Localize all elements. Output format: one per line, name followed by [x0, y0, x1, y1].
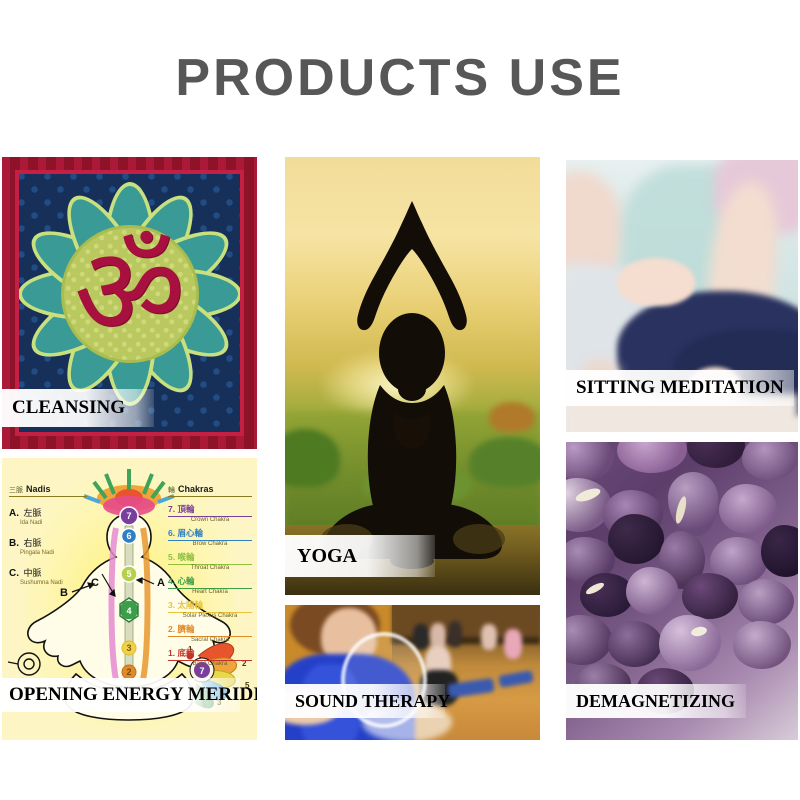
caption-text: CLEANSING — [12, 397, 125, 419]
caption-sitting-meditation: SITTING MEDITATION — [566, 370, 794, 406]
panel-sound-therapy[interactable]: SOUND THERAPY — [285, 605, 540, 740]
caption-text: DEMAGNETIZING — [576, 691, 735, 712]
chakra-item: 4. 心輪 Heart Chakra — [168, 575, 252, 595]
chakra-item: 2. 臍輪 Sacral Chakra — [168, 623, 252, 643]
page-title: PRODUCTS USE — [0, 52, 800, 104]
svg-text:3: 3 — [126, 643, 131, 653]
nadi-item: C. 中脈 Sushumna Nadi — [9, 563, 87, 586]
chakras-legend: 輪Chakras 7. 頂輪 Crown Chakra 6. 眉心輪 Brow … — [168, 484, 252, 671]
caption-text: OPENING ENERGY MERIDIANS — [9, 684, 257, 706]
panel-opening-energy-meridians[interactable]: 7 6 5 4 3 2 A C B — [2, 458, 257, 740]
panel-sitting-meditation[interactable]: SITTING MEDITATION — [566, 160, 798, 432]
nadis-heading: 三脈Nadis — [9, 484, 87, 497]
yoga-silhouette-art — [285, 157, 540, 595]
svg-text:A: A — [157, 577, 165, 589]
nadi-item: B. 右脈 Pingala Nadi — [9, 533, 87, 556]
caption-opening-energy-meridians: OPENING ENERGY MERIDIANS — [2, 678, 240, 712]
svg-text:2: 2 — [126, 667, 131, 677]
svg-text:C: C — [91, 577, 99, 589]
chakra-item: 1. 底輪 Base Chakra — [168, 647, 252, 667]
caption-text: YOGA — [297, 545, 357, 568]
chakra-item: 3. 太陽輪 Solar Plexus Chakra — [168, 599, 252, 619]
svg-text:4: 4 — [126, 606, 131, 616]
caption-sound-therapy: SOUND THERAPY — [285, 684, 445, 718]
chakras-heading: 輪Chakras — [168, 484, 252, 497]
svg-text:5: 5 — [126, 569, 131, 579]
svg-text:7: 7 — [126, 511, 131, 521]
caption-yoga: YOGA — [285, 535, 435, 577]
svg-text:6: 6 — [126, 531, 131, 541]
caption-cleansing: CLEANSING — [2, 389, 154, 427]
panel-cleansing[interactable]: ॐ CLEANSING — [2, 157, 257, 449]
chakra-item: 6. 眉心輪 Brow Chakra — [168, 527, 252, 547]
chakra-item: 5. 喉輪 Throat Chakra — [168, 551, 252, 571]
singing-bowl-photo-art — [285, 605, 540, 740]
panel-yoga[interactable]: YOGA — [285, 157, 540, 595]
caption-text: SITTING MEDITATION — [576, 377, 784, 399]
caption-text: SOUND THERAPY — [295, 691, 450, 712]
infographic-page: PRODUCTS USE — [0, 0, 800, 800]
chakra-item: 7. 頂輪 Crown Chakra — [168, 503, 252, 523]
caption-demagnetizing: DEMAGNETIZING — [566, 684, 746, 718]
nadis-legend: 三脈Nadis A. 左脈 Ida Nadi B. 右脈 Pingala Nad… — [9, 484, 87, 593]
panel-demagnetizing[interactable]: DEMAGNETIZING — [566, 442, 798, 740]
nadi-item: A. 左脈 Ida Nadi — [9, 503, 87, 526]
yoga-pose-figure — [285, 157, 540, 595]
